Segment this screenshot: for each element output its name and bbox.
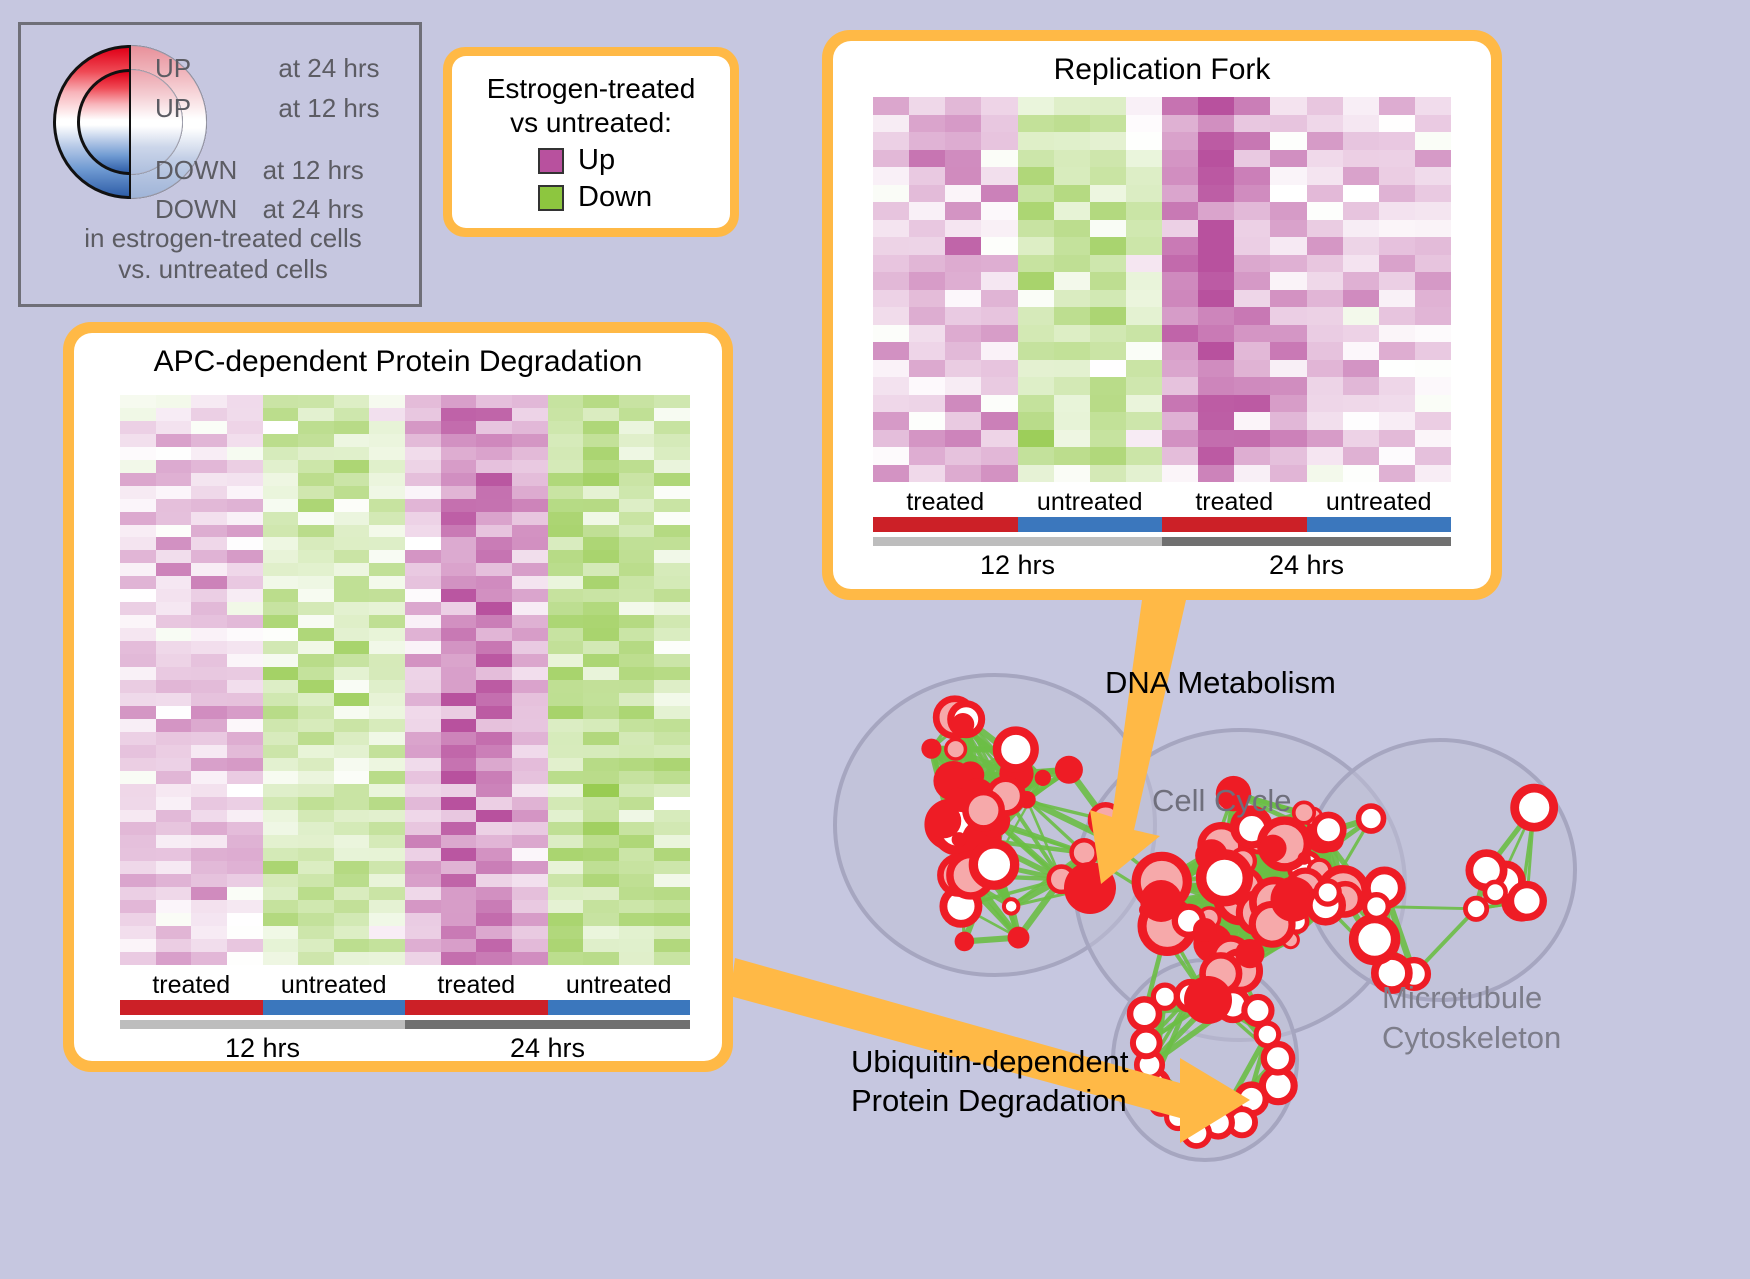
cluster-label-microtubule-cytoskeleton: Microtubule Cytoskeleton <box>1382 978 1561 1059</box>
cluster-label-dna-metabolism: DNA Metabolism <box>1105 665 1336 701</box>
cluster-label-ubiquitin-degradation: Ubiquitin-dependent Protein Degradation <box>851 1043 1129 1121</box>
cluster-label-cell-cycle: Cell Cycle <box>1152 783 1292 819</box>
arrow-to-dna-metabolism <box>1090 600 1186 884</box>
